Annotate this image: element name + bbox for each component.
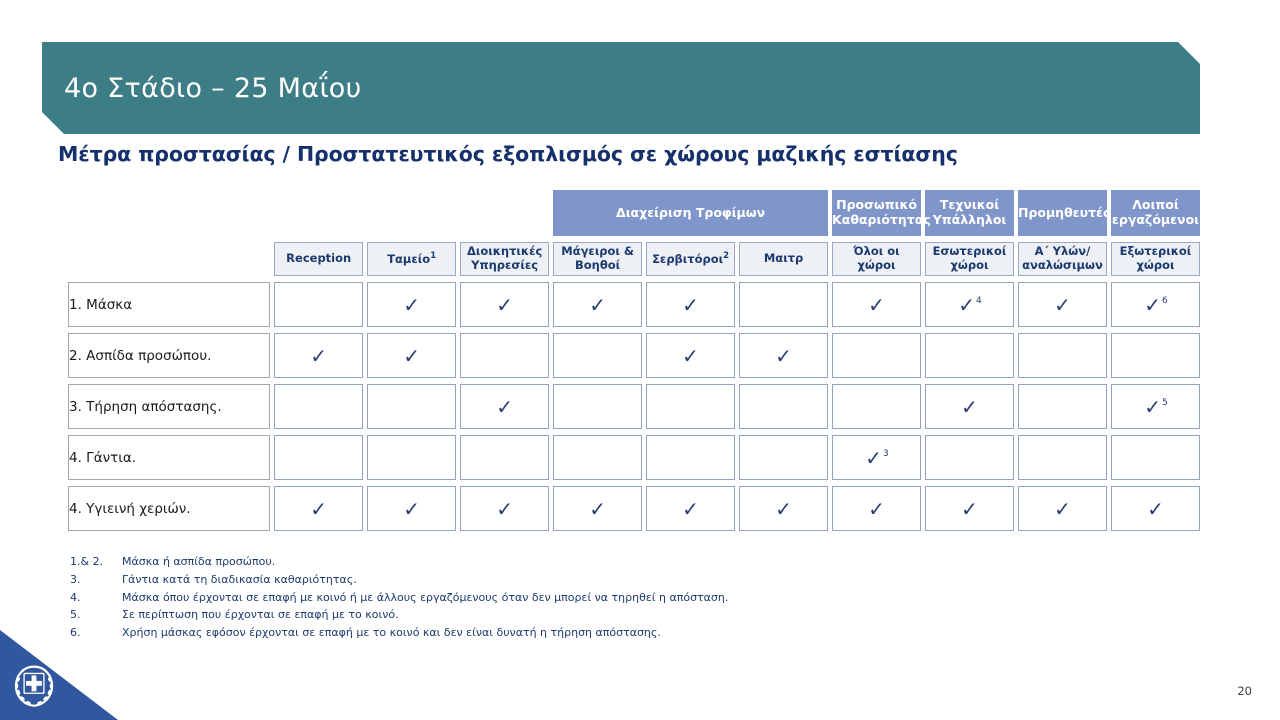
group-header-5: Λοιποί εργαζόμενοι	[1111, 190, 1200, 236]
check-icon: ✓	[589, 295, 606, 315]
column-header-4[interactable]: Σερβιτόροι2	[646, 242, 735, 276]
column-header-9[interactable]: Εξωτερικοί χώροι	[1111, 242, 1200, 276]
column-header-6[interactable]: Όλοι οι χώροι	[832, 242, 921, 276]
matrix-cell-r3-c6[interactable]: ✓3	[832, 435, 921, 480]
matrix-cell-r2-c1[interactable]	[367, 384, 456, 429]
group-header-label: Τεχνικοί Υπάλληλοι	[933, 197, 1007, 227]
matrix-cell-r2-c4[interactable]	[646, 384, 735, 429]
row-label-text: 1. Μάσκα	[69, 297, 132, 313]
matrix-cell-r0-c6[interactable]: ✓	[832, 282, 921, 327]
column-header-3[interactable]: Μάγειροι & Βοηθοί	[553, 242, 642, 276]
matrix-cell-r4-c2[interactable]: ✓	[460, 486, 549, 531]
matrix-cell-r3-c3[interactable]	[553, 435, 642, 480]
table-head: Διαχείριση ΤροφίμωνΠροσωπικό Καθαριότητα…	[68, 190, 1200, 276]
check-icon: ✓	[496, 499, 513, 519]
row-label-text: 2. Ασπίδα προσώπου.	[69, 348, 211, 364]
table-row: 3. Τήρηση απόστασης.✓✓✓5	[68, 384, 1200, 429]
matrix-cell-r2-c9[interactable]: ✓5	[1111, 384, 1200, 429]
column-header-5[interactable]: Μαιτρ	[739, 242, 828, 276]
matrix-cell-r4-c7[interactable]: ✓	[925, 486, 1014, 531]
cell-footnote-ref: 5	[1162, 398, 1168, 408]
matrix-cell-r4-c0[interactable]: ✓	[274, 486, 363, 531]
page-subtitle: Μέτρα προστασίας / Προστατευτικός εξοπλι…	[58, 142, 958, 166]
check-icon: ✓4	[958, 295, 981, 315]
matrix-cell-r4-c8[interactable]: ✓	[1018, 486, 1107, 531]
matrix-cell-r0-c4[interactable]: ✓	[646, 282, 735, 327]
column-header-2[interactable]: Διοικητικές Υπηρεσίες	[460, 242, 549, 276]
matrix-cell-r0-c0[interactable]	[274, 282, 363, 327]
footnote-text: Γάντια κατά τη διαδικασία καθαριότητας.	[122, 571, 357, 589]
cell-footnote-ref: 3	[883, 449, 889, 459]
title-banner: 4ο Στάδιο – 25 Μαΐου	[42, 42, 1200, 134]
matrix-cell-r3-c1[interactable]	[367, 435, 456, 480]
group-header-spacer	[274, 190, 549, 236]
matrix-cell-r1-c3[interactable]	[553, 333, 642, 378]
matrix-cell-r0-c9[interactable]: ✓6	[1111, 282, 1200, 327]
matrix-cell-r2-c2[interactable]: ✓	[460, 384, 549, 429]
matrix-cell-r3-c7[interactable]	[925, 435, 1014, 480]
matrix-cell-r4-c9[interactable]: ✓	[1111, 486, 1200, 531]
check-icon: ✓5	[1144, 397, 1167, 417]
column-header-label: Διοικητικές Υπηρεσίες	[467, 244, 542, 272]
group-header-row: Διαχείριση ΤροφίμωνΠροσωπικό Καθαριότητα…	[68, 190, 1200, 236]
footnote-item: 4.Μάσκα όπου έρχονται σε επαφή με κοινό …	[70, 589, 728, 607]
column-header-spacer	[68, 242, 270, 276]
matrix-cell-r3-c0[interactable]	[274, 435, 363, 480]
matrix-cell-r1-c8[interactable]	[1018, 333, 1107, 378]
check-icon: ✓	[682, 346, 699, 366]
check-icon: ✓	[589, 499, 606, 519]
row-label-text: 4. Υγιεινή χεριών.	[69, 501, 191, 517]
group-header-label: Διαχείριση Τροφίμων	[616, 205, 765, 220]
check-icon: ✓	[682, 499, 699, 519]
column-header-footnote-ref: 2	[723, 251, 729, 261]
column-header-row: ReceptionΤαμείο1Διοικητικές ΥπηρεσίεςΜάγ…	[68, 242, 1200, 276]
matrix-cell-r2-c7[interactable]: ✓	[925, 384, 1014, 429]
group-header-label: Προμηθευτές	[1018, 205, 1110, 220]
check-icon: ✓	[868, 295, 885, 315]
matrix-cell-r2-c5[interactable]	[739, 384, 828, 429]
check-icon: ✓6	[1144, 295, 1167, 315]
column-header-1[interactable]: Ταμείο1	[367, 242, 456, 276]
matrix-cell-r1-c4[interactable]: ✓	[646, 333, 735, 378]
column-header-footnote-ref: 1	[430, 251, 436, 261]
check-icon: ✓	[403, 346, 420, 366]
matrix-cell-r4-c5[interactable]: ✓	[739, 486, 828, 531]
row-label-1[interactable]: 2. Ασπίδα προσώπου.	[68, 333, 270, 378]
cell-footnote-ref: 6	[1162, 296, 1168, 306]
column-header-label: Reception	[286, 251, 351, 265]
table-body: 1. Μάσκα✓✓✓✓✓✓4✓✓62. Ασπίδα προσώπου.✓✓✓…	[68, 282, 1200, 531]
column-header-label: Μάγειροι & Βοηθοί	[561, 244, 634, 272]
matrix-cell-r0-c1[interactable]: ✓	[367, 282, 456, 327]
column-header-label: Σερβιτόροι	[652, 252, 723, 266]
row-label-3[interactable]: 4. Γάντια.	[68, 435, 270, 480]
matrix-cell-r1-c5[interactable]: ✓	[739, 333, 828, 378]
group-header-1: Διαχείριση Τροφίμων	[553, 190, 828, 236]
matrix-cell-r0-c2[interactable]: ✓	[460, 282, 549, 327]
row-label-text: 4. Γάντια.	[69, 450, 136, 466]
matrix-cell-r1-c1[interactable]: ✓	[367, 333, 456, 378]
table-row: 2. Ασπίδα προσώπου.✓✓✓✓	[68, 333, 1200, 378]
column-header-label: Μαιτρ	[764, 251, 803, 265]
check-icon: ✓	[403, 295, 420, 315]
matrix-cell-r3-c9[interactable]	[1111, 435, 1200, 480]
matrix-cell-r3-c5[interactable]	[739, 435, 828, 480]
column-header-0[interactable]: Reception	[274, 242, 363, 276]
matrix-cell-r4-c1[interactable]: ✓	[367, 486, 456, 531]
footnote-item: 1.& 2.Μάσκα ή ασπίδα προσώπου.	[70, 553, 728, 571]
check-icon: ✓	[310, 499, 327, 519]
check-icon: ✓	[496, 295, 513, 315]
footnote-text: Μάσκα όπου έρχονται σε επαφή με κοινό ή …	[122, 589, 728, 607]
check-icon: ✓	[682, 295, 699, 315]
check-icon: ✓	[1054, 499, 1071, 519]
row-label-4[interactable]: 4. Υγιεινή χεριών.	[68, 486, 270, 531]
check-icon: ✓	[310, 346, 327, 366]
column-header-label: Όλοι οι χώροι	[853, 244, 899, 272]
greek-government-emblem-icon	[12, 664, 56, 708]
matrix-cell-r2-c8[interactable]	[1018, 384, 1107, 429]
matrix-cell-r2-c3[interactable]	[553, 384, 642, 429]
check-icon: ✓	[403, 499, 420, 519]
footnotes-block: 1.& 2.Μάσκα ή ασπίδα προσώπου.3.Γάντια κ…	[70, 553, 728, 642]
table-row: 4. Γάντια.✓3	[68, 435, 1200, 480]
matrix-cell-r3-c2[interactable]	[460, 435, 549, 480]
column-header-label: Ταμείο	[387, 252, 430, 266]
matrix-cell-r1-c9[interactable]	[1111, 333, 1200, 378]
row-label-text: 3. Τήρηση απόστασης.	[69, 399, 222, 415]
group-header-label: Λοιποί εργαζόμενοι	[1112, 197, 1199, 227]
footnote-number: 3.	[70, 571, 122, 589]
matrix-cell-r2-c6[interactable]	[832, 384, 921, 429]
check-icon: ✓	[961, 499, 978, 519]
table-row: 1. Μάσκα✓✓✓✓✓✓4✓✓6	[68, 282, 1200, 327]
matrix-cell-r2-c0[interactable]	[274, 384, 363, 429]
check-icon: ✓3	[865, 448, 888, 468]
matrix-cell-r0-c3[interactable]: ✓	[553, 282, 642, 327]
footnote-item: 5.Σε περίπτωση που έρχονται σε επαφή με …	[70, 606, 728, 624]
matrix-cell-r4-c6[interactable]: ✓	[832, 486, 921, 531]
check-icon: ✓	[1054, 295, 1071, 315]
matrix-grid: Διαχείριση ΤροφίμωνΠροσωπικό Καθαριότητα…	[64, 184, 1204, 537]
matrix-cell-r0-c5[interactable]	[739, 282, 828, 327]
column-header-label: Εσωτερικοί χώροι	[933, 244, 1007, 272]
footnote-item: 3.Γάντια κατά τη διαδικασία καθαριότητας…	[70, 571, 728, 589]
footnote-number: 4.	[70, 589, 122, 607]
footnote-text: Χρήση μάσκας εφόσον έρχονται σε επαφή με…	[122, 624, 661, 642]
matrix-cell-r1-c6[interactable]	[832, 333, 921, 378]
matrix-cell-r0-c8[interactable]: ✓	[1018, 282, 1107, 327]
group-header-4: Προμηθευτές	[1018, 190, 1107, 236]
check-icon: ✓	[961, 397, 978, 417]
matrix-cell-r1-c2[interactable]	[460, 333, 549, 378]
group-header-spacer	[68, 190, 270, 236]
footnote-text: Μάσκα ή ασπίδα προσώπου.	[122, 553, 275, 571]
footnote-number: 1.& 2.	[70, 553, 122, 571]
row-label-0[interactable]: 1. Μάσκα	[68, 282, 270, 327]
group-header-2: Προσωπικό Καθαριότητας	[832, 190, 921, 236]
matrix-cell-r0-c7[interactable]: ✓4	[925, 282, 1014, 327]
column-header-8[interactable]: Α΄ Υλών/ αναλώσιμων	[1018, 242, 1107, 276]
check-icon: ✓	[775, 346, 792, 366]
page-number: 20	[1237, 684, 1252, 698]
column-header-7[interactable]: Εσωτερικοί χώροι	[925, 242, 1014, 276]
footnote-number: 5.	[70, 606, 122, 624]
matrix-cell-r3-c8[interactable]	[1018, 435, 1107, 480]
table-row: 4. Υγιεινή χεριών.✓✓✓✓✓✓✓✓✓✓	[68, 486, 1200, 531]
group-header-3: Τεχνικοί Υπάλληλοι	[925, 190, 1014, 236]
footnote-text: Σε περίπτωση που έρχονται σε επαφή με το…	[122, 606, 399, 624]
check-icon: ✓	[1147, 499, 1164, 519]
cell-footnote-ref: 4	[976, 296, 982, 306]
matrix-cell-r1-c7[interactable]	[925, 333, 1014, 378]
protection-measures-table: Διαχείριση ΤροφίμωνΠροσωπικό Καθαριότητα…	[64, 184, 1204, 537]
check-icon: ✓	[496, 397, 513, 417]
matrix-cell-r4-c3[interactable]: ✓	[553, 486, 642, 531]
matrix-cell-r3-c4[interactable]	[646, 435, 735, 480]
footnote-item: 6.Χρήση μάσκας εφόσον έρχονται σε επαφή …	[70, 624, 728, 642]
column-header-label: Εξωτερικοί χώροι	[1120, 244, 1192, 272]
page-title: 4ο Στάδιο – 25 Μαΐου	[64, 73, 362, 104]
slide-canvas: 4ο Στάδιο – 25 Μαΐου Μέτρα προστασίας / …	[0, 0, 1280, 720]
row-label-2[interactable]: 3. Τήρηση απόστασης.	[68, 384, 270, 429]
check-icon: ✓	[868, 499, 885, 519]
matrix-cell-r1-c0[interactable]: ✓	[274, 333, 363, 378]
check-icon: ✓	[775, 499, 792, 519]
matrix-cell-r4-c4[interactable]: ✓	[646, 486, 735, 531]
column-header-label: Α΄ Υλών/ αναλώσιμων	[1022, 244, 1103, 272]
footnote-number: 6.	[70, 624, 122, 642]
group-header-label: Προσωπικό Καθαριότητας	[832, 197, 931, 227]
